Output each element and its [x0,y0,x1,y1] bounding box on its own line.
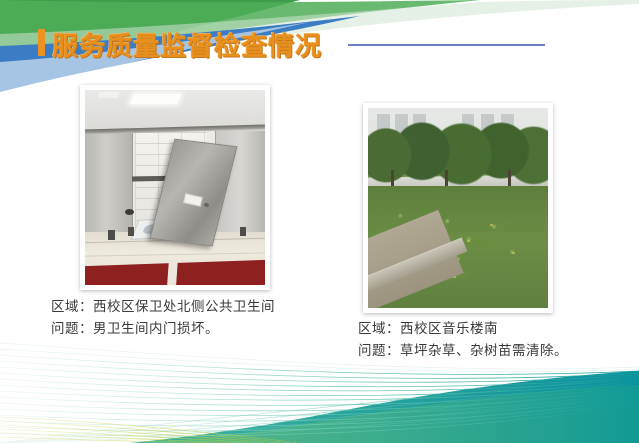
floor-drain [125,209,134,215]
caption-right-area: 区域：西校区音乐楼南 [358,318,568,340]
caption-right-issue: 问题：草坪杂草、杂树苗需清除。 [358,340,568,362]
fallen-leaf [467,240,470,242]
caption-left: 区域：西校区保卫处北侧公共卫生间 问题：男卫生间内门损坏。 [51,296,275,340]
restroom-photo-content [85,90,265,285]
caption-left-issue: 问题：男卫生间内门损坏。 [51,318,275,340]
ceiling-light [130,94,181,104]
overgrown-lawn-photo [363,103,553,313]
lawn-photo-content [368,108,548,308]
caption-left-area: 区域：西校区保卫处北侧公共卫生间 [51,296,275,318]
slide-canvas: 服务质量监督检查情况 [0,0,639,443]
page-title: 服务质量监督检查情况 [52,26,322,63]
title-accent-bar [38,29,45,56]
partition-foot-1 [108,230,114,240]
partition-foot-3 [240,227,246,237]
partition-foot-2 [128,227,134,237]
ceiling-light-secondary [98,92,120,98]
restroom-broken-door-photo [80,85,270,290]
stall-partition-left [85,133,133,236]
carpet-seam [167,259,178,285]
teal-wedge [130,371,639,443]
fallen-leaf [512,252,515,254]
caption-right: 区域：西校区音乐楼南 问题：草坪杂草、杂树苗需清除。 [358,318,568,362]
title-divider-line [348,44,545,46]
tree-row [368,120,548,188]
